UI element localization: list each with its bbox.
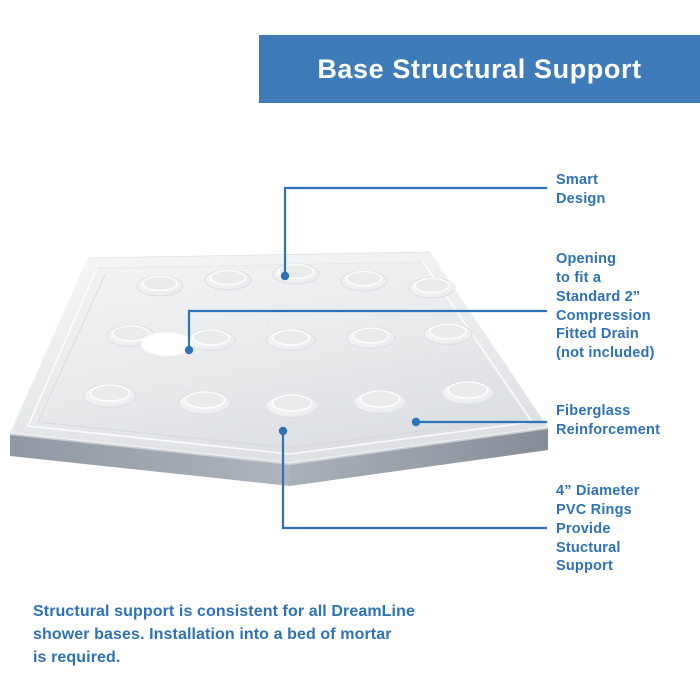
pvc-ring	[267, 330, 315, 351]
pvc-ring	[409, 278, 455, 298]
pvc-ring	[84, 385, 136, 408]
pvc-ring	[273, 264, 319, 284]
bottom-caption: Structural support is consistent for all…	[33, 600, 503, 670]
callout-drain-opening: Opening to fit a Standard 2” Compression…	[556, 250, 700, 363]
pvc-ring	[424, 324, 472, 345]
pvc-ring	[341, 271, 387, 291]
pvc-ring	[179, 392, 231, 415]
callout-fiberglass-reinforcement: Fiberglass Reinforcement	[556, 402, 700, 440]
callout-smart-design: Smart Design	[556, 171, 696, 209]
pvc-ring	[137, 276, 183, 296]
pvc-ring	[187, 330, 235, 351]
pvc-ring	[266, 395, 318, 418]
pvc-ring	[442, 382, 494, 405]
pvc-ring	[354, 391, 406, 414]
shower-base-illustration	[0, 230, 580, 490]
pvc-ring	[205, 270, 251, 290]
callout-pvc-rings: 4” Diameter PVC Rings Provide Stuctural …	[556, 482, 696, 576]
drain-opening	[141, 332, 193, 356]
page-title: Base Structural Support	[317, 54, 641, 85]
header-banner: Base Structural Support	[259, 35, 700, 103]
pvc-ring	[347, 328, 395, 349]
